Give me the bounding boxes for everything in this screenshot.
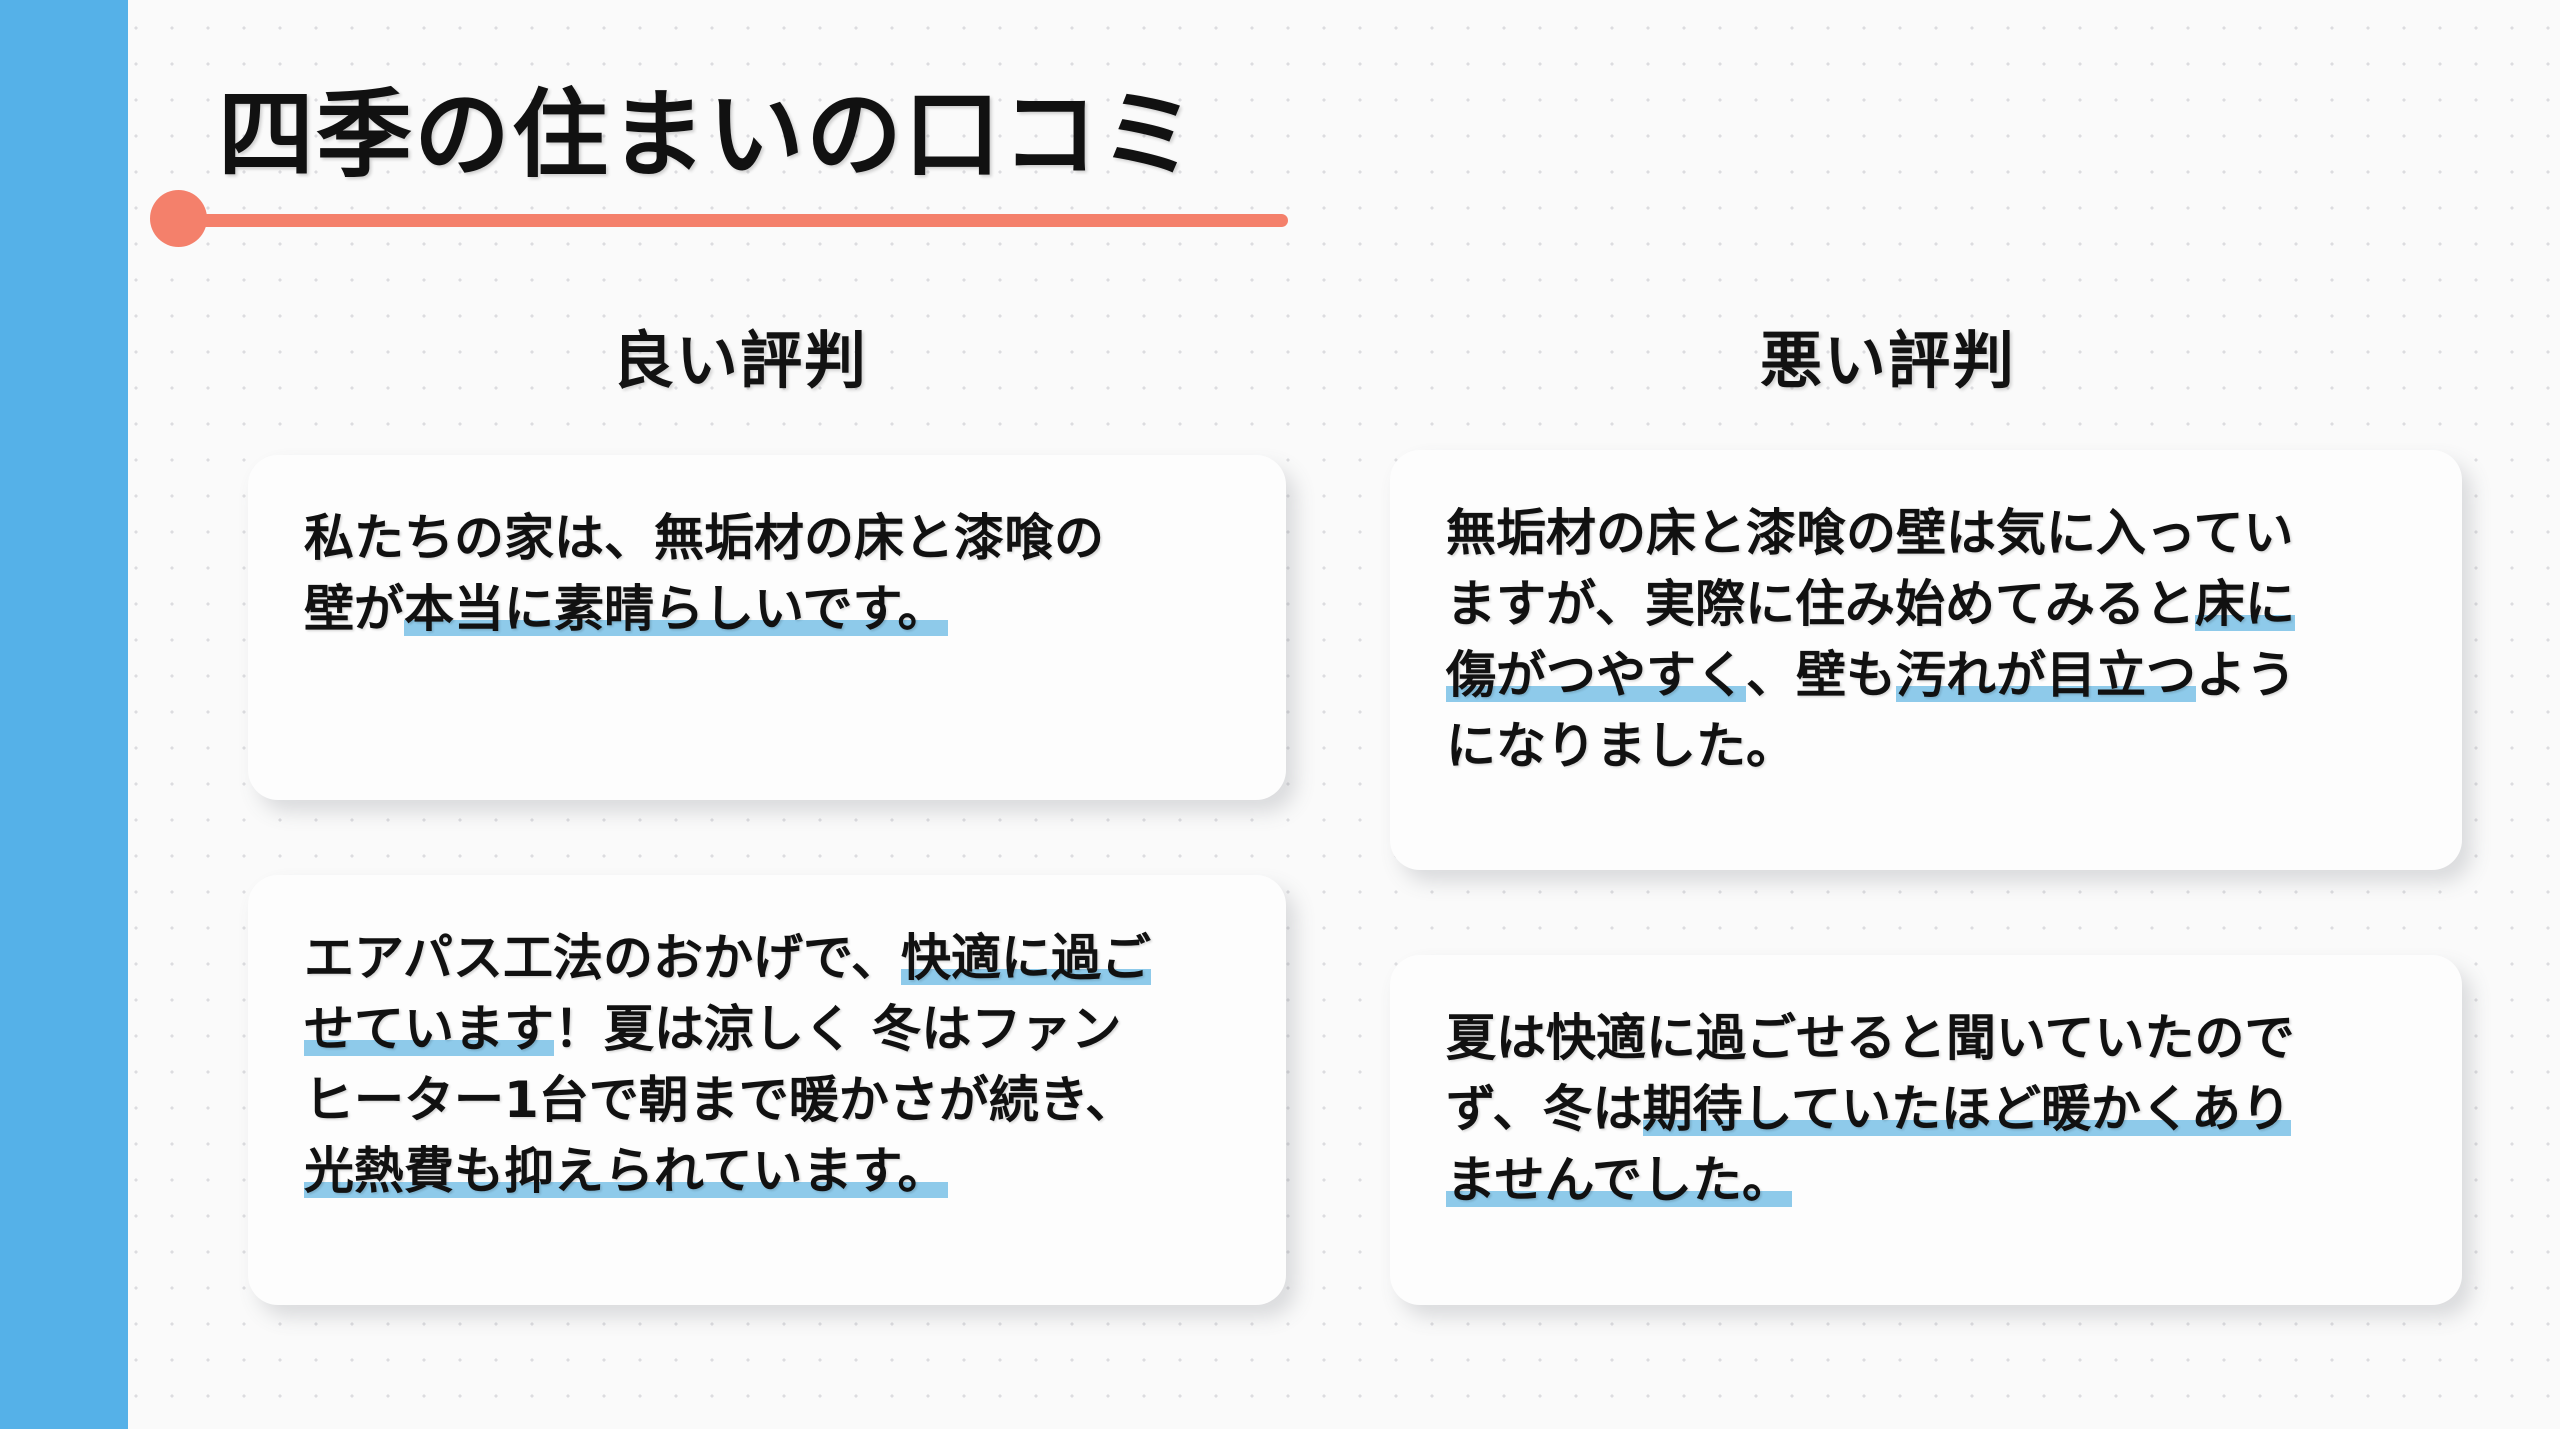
- review-text-line: ず、冬は期待していたほど暖かくあり: [1446, 1074, 2406, 1145]
- review-card-bad-2: 夏は快適に過ごせると聞いていたのでず、冬は期待していたほど暖かくありませんでした…: [1390, 955, 2462, 1305]
- plain-phrase: 私たちの家は、無垢材の床と漆喰の: [304, 509, 1104, 567]
- review-text: 夏は快適に過ごせると聞いていたのでず、冬は期待していたほど暖かくありませんでした…: [1446, 1003, 2406, 1216]
- plain-phrase: ヒーター1台で朝まで暖かさが続き、: [304, 1071, 1135, 1129]
- plain-phrase: よう: [2196, 646, 2296, 704]
- highlighted-phrase: ませんでした。: [1446, 1151, 1792, 1211]
- plain-phrase: ず、冬は: [1446, 1080, 1643, 1138]
- sidebar-accent-bar: [0, 0, 128, 1429]
- review-text-line: 無垢材の床と漆喰の壁は気に入ってい: [1446, 498, 2406, 569]
- highlighted-phrase: 汚れが目立つ: [1896, 646, 2196, 706]
- plain-phrase: ！夏は涼しく 冬はファン: [554, 1000, 1121, 1058]
- highlighted-phrase: 光熱費も抑えられています。: [304, 1142, 948, 1202]
- review-card-bad-1: 無垢材の床と漆喰の壁は気に入っていますが、実際に住み始めてみると床に傷がつやすく…: [1390, 450, 2462, 870]
- review-text: 無垢材の床と漆喰の壁は気に入っていますが、実際に住み始めてみると床に傷がつやすく…: [1446, 498, 2406, 782]
- review-text: 私たちの家は、無垢材の床と漆喰の壁が本当に素晴らしいです。: [304, 503, 1230, 645]
- highlighted-phrase: 快適に過ご: [901, 929, 1151, 989]
- highlighted-phrase: 傷がつやすく: [1446, 646, 1746, 706]
- review-card-good-2: エアパス工法のおかげで、快適に過ごせています！夏は涼しく 冬はファンヒーター1台…: [248, 875, 1286, 1305]
- highlighted-phrase: 本当に素晴らしいです。: [404, 580, 948, 640]
- slide-root: 四季の住まいの口コミ 良い評判 悪い評判 私たちの家は、無垢材の床と漆喰の壁が本…: [0, 0, 2560, 1429]
- review-text-line: 壁が本当に素晴らしいです。: [304, 574, 1230, 645]
- review-text-line: エアパス工法のおかげで、快適に過ご: [304, 923, 1230, 994]
- plain-phrase: ますが、実際に住み始めてみると: [1446, 575, 2195, 633]
- plain-phrase: 無垢材の床と漆喰の壁は気に入ってい: [1446, 504, 2294, 562]
- plain-phrase: 夏は快適に過ごせると聞いていたので: [1446, 1009, 2295, 1067]
- title-accent-rule: [178, 214, 1288, 227]
- review-card-good-1: 私たちの家は、無垢材の床と漆喰の壁が本当に素晴らしいです。: [248, 455, 1286, 800]
- review-text-line: 夏は快適に過ごせると聞いていたので: [1446, 1003, 2406, 1074]
- review-text-line: せています！夏は涼しく 冬はファン: [304, 994, 1230, 1065]
- review-text-line: 光熱費も抑えられています。: [304, 1136, 1230, 1207]
- review-text-line: ヒーター1台で朝まで暖かさが続き、: [304, 1065, 1230, 1136]
- highlighted-phrase: せています: [304, 1000, 554, 1060]
- plain-phrase: エアパス工法のおかげで、: [304, 929, 901, 987]
- plain-phrase: になりました。: [1446, 717, 1796, 775]
- review-text-line: 私たちの家は、無垢材の床と漆喰の: [304, 503, 1230, 574]
- title-block: 四季の住まいの口コミ: [218, 80, 1418, 270]
- plain-phrase: 、壁も: [1746, 646, 1896, 704]
- highlighted-phrase: 床に: [2195, 575, 2295, 635]
- column-heading-bad: 悪い評判: [1760, 330, 2016, 392]
- page-title: 四季の住まいの口コミ: [218, 80, 1198, 190]
- review-text-line: になりました。: [1446, 711, 2406, 782]
- column-heading-good: 良い評判: [612, 330, 868, 392]
- highlighted-phrase: 期待していたほど暖かくあり: [1643, 1080, 2292, 1140]
- review-text-line: 傷がつやすく、壁も汚れが目立つよう: [1446, 640, 2406, 711]
- plain-phrase: 壁が: [304, 580, 404, 638]
- review-text-line: ませんでした。: [1446, 1145, 2406, 1216]
- review-text-line: ますが、実際に住み始めてみると床に: [1446, 569, 2406, 640]
- review-text: エアパス工法のおかげで、快適に過ごせています！夏は涼しく 冬はファンヒーター1台…: [304, 923, 1230, 1207]
